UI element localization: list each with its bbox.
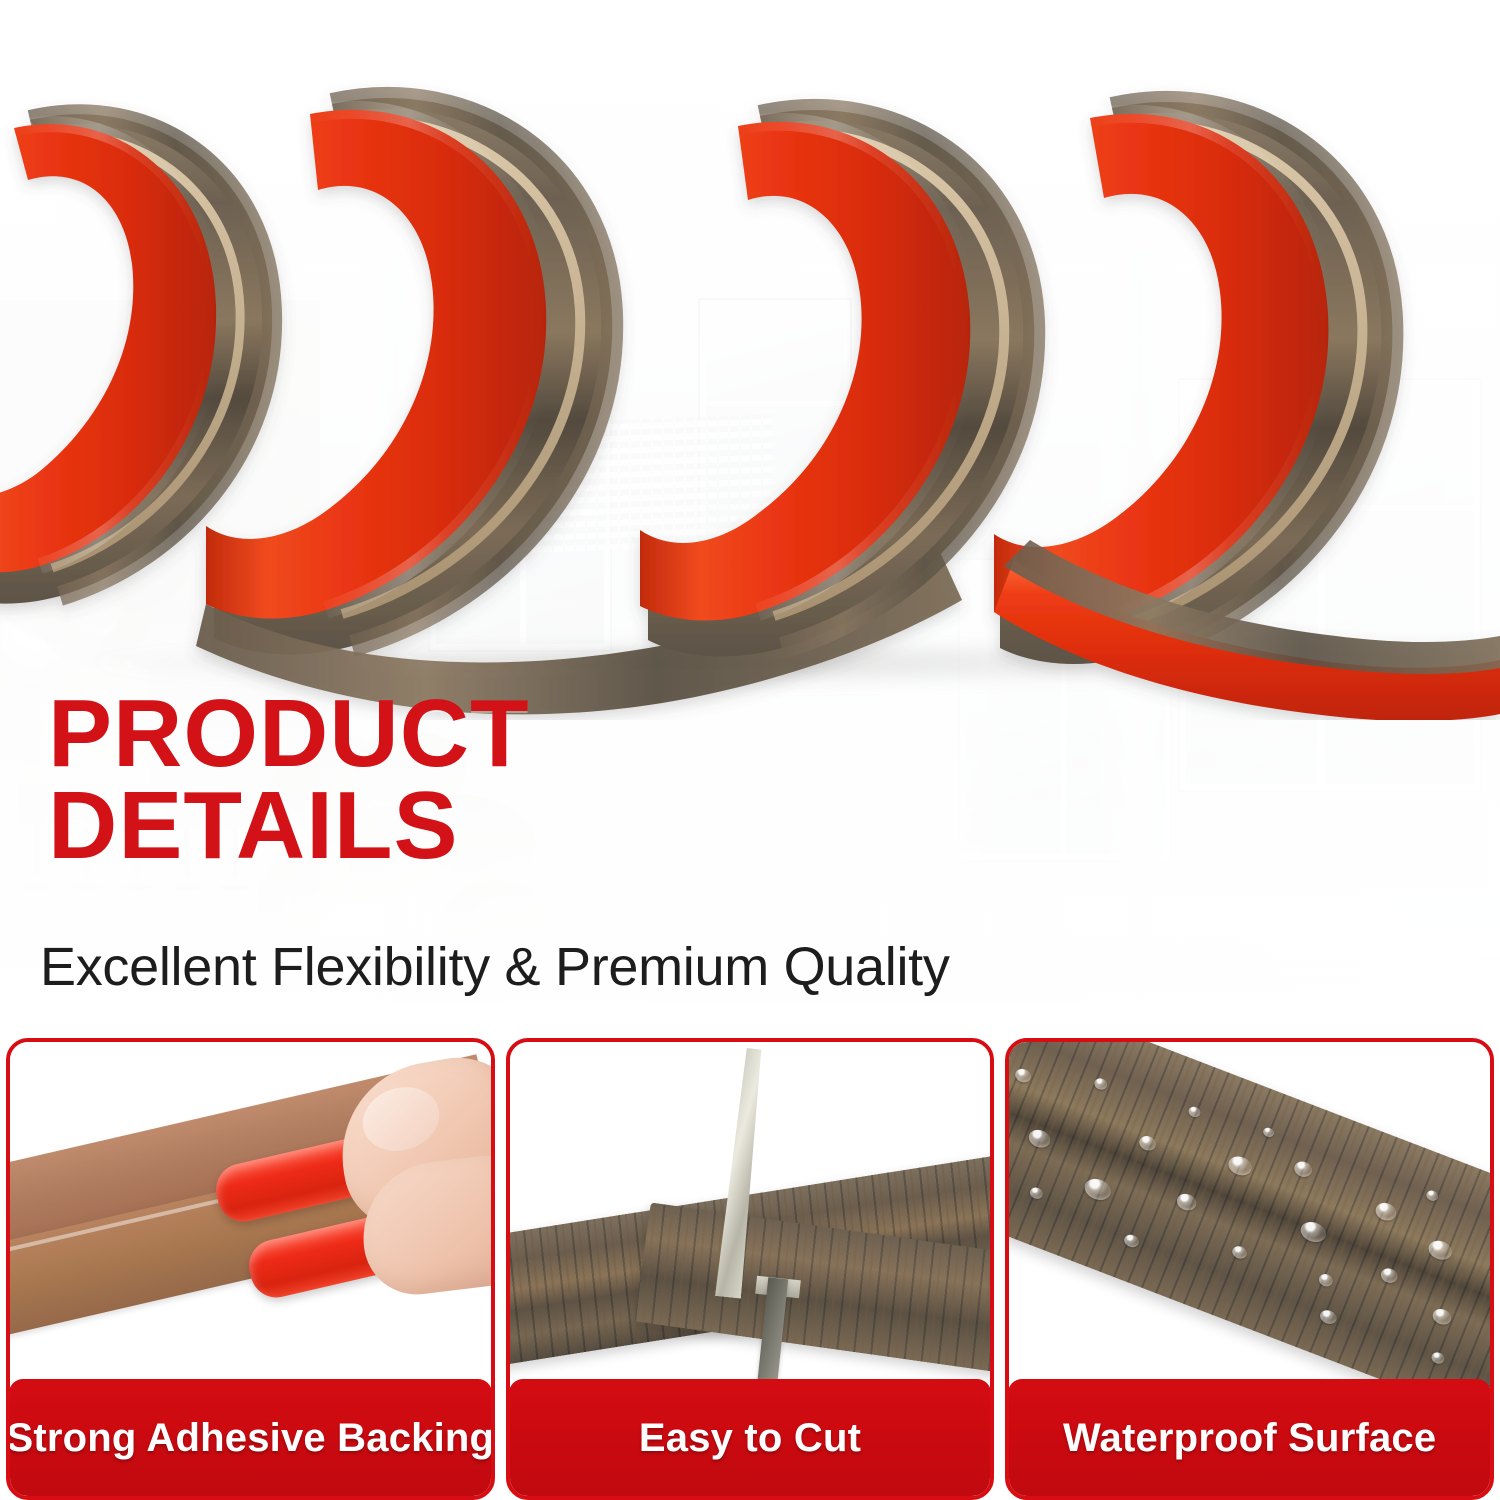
water-droplet-group <box>1009 1042 1490 1387</box>
feature-card-adhesive[interactable]: Strong Adhesive Backing <box>6 1038 495 1500</box>
card-image-water-beading <box>1009 1042 1490 1387</box>
page-subtitle: Excellent Flexibility & Premium Quality <box>40 938 950 997</box>
card-label-waterproof: Waterproof Surface <box>1008 1379 1491 1497</box>
card-label-adhesive: Strong Adhesive Backing <box>9 1379 492 1497</box>
feature-card-cut[interactable]: Easy to Cut <box>506 1038 995 1500</box>
hero-coiled-strip <box>0 0 1500 720</box>
card-label-cut: Easy to Cut <box>509 1379 992 1497</box>
page-title: PRODUCT DETAILS <box>48 688 530 872</box>
product-detail-banner: PRODUCT DETAILS Excellent Flexibility & … <box>0 0 1500 1500</box>
wet-wood-grain-strip <box>1009 1042 1490 1387</box>
feature-card-row: Strong Adhesive Backing Easy to Cut <box>0 1038 1500 1500</box>
card-image-adhesive-peel <box>10 1042 491 1387</box>
card-image-scissors-cut <box>510 1042 991 1387</box>
feature-card-waterproof[interactable]: Waterproof Surface <box>1005 1038 1494 1500</box>
